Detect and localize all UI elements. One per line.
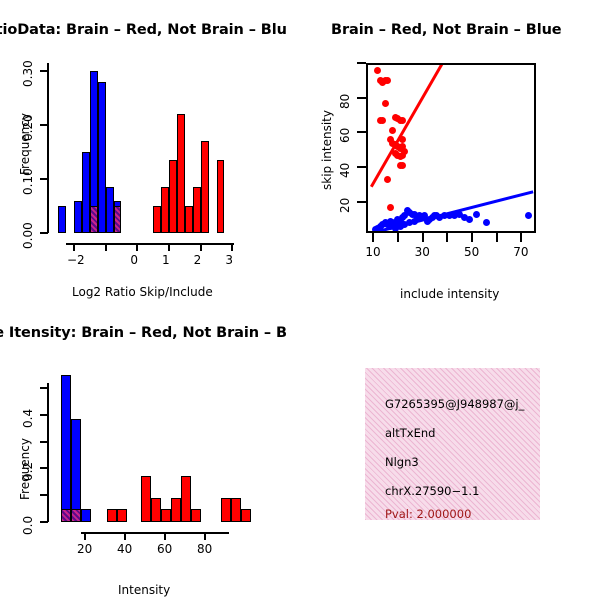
histogram-bar bbox=[71, 509, 81, 522]
ratio-histogram-y-axis bbox=[47, 63, 49, 233]
histogram-bar bbox=[81, 509, 91, 522]
event-info-panel: G7265395@J948987@j_ altTxEnd Nlgn3 chrX.… bbox=[365, 368, 540, 520]
ratio-histogram-xtick: 0 bbox=[130, 253, 138, 267]
intensity-histogram-xtick: 60 bbox=[157, 542, 172, 556]
scatter-point bbox=[387, 204, 394, 211]
histogram-bar bbox=[71, 419, 81, 522]
intensity-histogram-y-axis bbox=[47, 383, 49, 522]
intensity-histogram-x-axis bbox=[81, 532, 229, 534]
scatter-ytick: 80 bbox=[338, 93, 352, 108]
ratio-histogram-ytick: 0.00 bbox=[21, 222, 35, 249]
intensity-histogram-ytick: 0.0 bbox=[21, 516, 35, 535]
scatter-xtick: 10 bbox=[365, 245, 380, 259]
ratio-histogram-ylabel: Frequency bbox=[18, 113, 32, 175]
histogram-bar bbox=[61, 509, 71, 522]
figure-canvas: atioData: Brain – Red, Not Brain – Blu 0… bbox=[0, 0, 600, 600]
scatter-point bbox=[483, 219, 490, 226]
ratio-histogram-xtick: −2 bbox=[67, 253, 85, 267]
histogram-bar bbox=[181, 476, 191, 522]
histogram-bar bbox=[177, 114, 185, 233]
intensity-histogram-ylabel: Frequency bbox=[18, 438, 32, 500]
scatter-point bbox=[374, 67, 381, 74]
ratio-histogram-x-axis bbox=[66, 243, 234, 245]
histogram-bar bbox=[74, 201, 82, 233]
histogram-bar bbox=[161, 187, 169, 233]
info-locus: chrX.27590−1.1 bbox=[385, 484, 479, 498]
ratio-histogram-xtick: 3 bbox=[225, 253, 233, 267]
scatter-xtick: 30 bbox=[415, 245, 430, 259]
ratio-histogram-xtick: 1 bbox=[162, 253, 170, 267]
histogram-bar bbox=[106, 187, 114, 233]
scatter-point bbox=[384, 176, 391, 183]
scatter-point bbox=[389, 127, 396, 134]
intensity-histogram-xlabel: Intensity bbox=[118, 583, 170, 597]
scatter-point bbox=[411, 218, 418, 225]
scatter-ytick: 40 bbox=[338, 163, 352, 178]
scatter-point bbox=[525, 212, 532, 219]
histogram-bar bbox=[98, 82, 106, 233]
scatter-ytick: 60 bbox=[338, 128, 352, 143]
histogram-bar bbox=[61, 375, 71, 522]
histogram-bar bbox=[217, 160, 225, 233]
intensity-histogram-xtick: 80 bbox=[197, 542, 212, 556]
ratio-histogram-xlabel: Log2 Ratio Skip/Include bbox=[72, 285, 213, 299]
info-gene-symbol: Nlgn3 bbox=[385, 455, 419, 469]
scatter-xlabel: include intensity bbox=[400, 287, 499, 301]
scatter-point bbox=[379, 117, 386, 124]
scatter-title: Brain – Red, Not Brain – Blue bbox=[331, 22, 562, 38]
histogram-bar bbox=[231, 498, 241, 522]
scatter-xtick: 70 bbox=[513, 245, 528, 259]
histogram-bar bbox=[161, 509, 171, 522]
info-probe-id: G7265395@J948987@j_ bbox=[385, 397, 524, 411]
scatter-point bbox=[401, 148, 408, 155]
histogram-bar bbox=[191, 509, 201, 522]
histogram-bar bbox=[171, 498, 181, 522]
scatter-point bbox=[399, 117, 406, 124]
info-event-type: altTxEnd bbox=[385, 426, 435, 440]
scatter-point bbox=[473, 211, 480, 218]
intensity-histogram-title: ne Itensity: Brain – Red, Not Brain – B bbox=[0, 325, 287, 341]
histogram-bar bbox=[58, 206, 66, 233]
histogram-bar bbox=[241, 509, 251, 522]
histogram-bar bbox=[82, 152, 90, 233]
scatter-xtick: 50 bbox=[464, 245, 479, 259]
histogram-bar bbox=[153, 206, 161, 233]
scatter-frame bbox=[366, 63, 536, 233]
histogram-bar bbox=[90, 206, 98, 233]
histogram-bar bbox=[141, 476, 151, 522]
histogram-bar bbox=[117, 509, 127, 522]
intensity-histogram-xtick: 20 bbox=[77, 542, 92, 556]
histogram-bar bbox=[169, 160, 177, 233]
intensity-histogram-xtick: 40 bbox=[117, 542, 132, 556]
scatter-point bbox=[399, 136, 406, 143]
scatter-point bbox=[399, 162, 406, 169]
histogram-bar bbox=[221, 498, 231, 522]
scatter-point bbox=[382, 100, 389, 107]
histogram-bar bbox=[107, 509, 117, 522]
ratio-histogram-xtick: 2 bbox=[194, 253, 202, 267]
info-pval: Pval: 2.000000 bbox=[385, 507, 471, 520]
histogram-bar bbox=[114, 206, 122, 233]
ratio-histogram-ytick: 0.30 bbox=[21, 60, 35, 87]
histogram-bar bbox=[193, 187, 201, 233]
histogram-bar bbox=[151, 498, 161, 522]
histogram-bar bbox=[201, 141, 209, 233]
ratio-histogram-title: atioData: Brain – Red, Not Brain – Blu bbox=[0, 22, 287, 38]
scatter-point bbox=[466, 216, 473, 223]
intensity-histogram-ytick: 0.4 bbox=[21, 409, 35, 428]
histogram-bar bbox=[185, 206, 193, 233]
scatter-ytick: 20 bbox=[338, 197, 352, 212]
scatter-ylabel: skip intensity bbox=[320, 110, 334, 190]
scatter-point bbox=[384, 77, 391, 84]
